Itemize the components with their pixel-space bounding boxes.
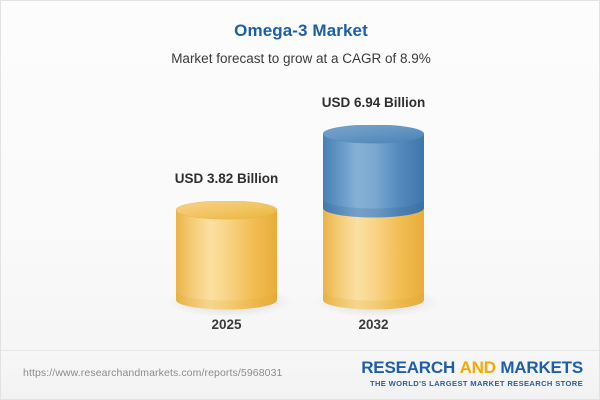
footer-bar: https://www.researchandmarkets.com/repor…	[1, 350, 600, 399]
bar-value-label-2032: USD 6.94 Billion	[322, 95, 426, 110]
brand-logo-word-and: AND	[460, 358, 496, 377]
brand-logo-tagline: THE WORLD'S LARGEST MARKET RESEARCH STOR…	[361, 379, 583, 388]
bar-category-label-2025: 2025	[211, 317, 241, 332]
bar-group-2032: USD 6.94 Billion	[323, 1, 424, 353]
brand-logo-word-markets: MARKETS	[500, 358, 583, 377]
bar-cylinder-2032[interactable]	[323, 125, 424, 316]
brand-logo-word-research: RESEARCH	[361, 358, 455, 377]
report-url[interactable]: https://www.researchandmarkets.com/repor…	[23, 367, 282, 379]
brand-logo-wordmark: RESEARCH AND MARKETS	[361, 359, 583, 377]
bar-group-2025: USD 3.82 Billion	[176, 1, 277, 353]
bar-value-label-2025: USD 3.82 Billion	[175, 171, 279, 186]
chart-card: Omega-3 Market Market forecast to grow a…	[0, 0, 600, 400]
bar-category-label-2032: 2032	[358, 317, 388, 332]
brand-logo[interactable]: RESEARCH AND MARKETS THE WORLD'S LARGEST…	[361, 359, 583, 388]
chart-plot-area: USD 3.82 Billion	[1, 1, 600, 353]
bar-cylinder-2025[interactable]	[176, 201, 277, 316]
